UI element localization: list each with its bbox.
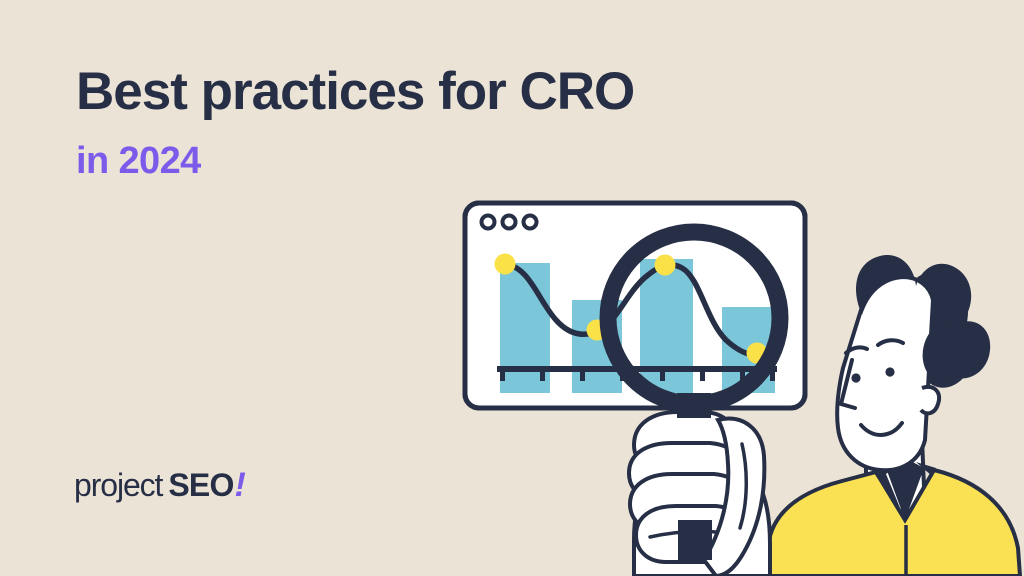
eye-right xyxy=(885,367,894,376)
window-dot-close-icon xyxy=(482,216,495,229)
chart-baseline xyxy=(497,366,777,372)
thumb xyxy=(704,419,764,576)
finger-2 xyxy=(629,443,742,499)
thumb-crease xyxy=(740,444,746,528)
mouth-smile xyxy=(861,423,902,435)
magnifier-handle-tip xyxy=(678,520,712,560)
hair-back xyxy=(883,262,981,393)
logo-word-project: project xyxy=(74,467,162,504)
face xyxy=(837,277,933,470)
chart-data-point xyxy=(747,343,768,364)
browser-window xyxy=(465,203,805,408)
collar-left xyxy=(872,462,905,520)
finger-3 xyxy=(630,474,747,531)
hair-main xyxy=(856,255,990,378)
hair-sideburn xyxy=(916,315,982,390)
browser-window-frame-outline xyxy=(465,203,805,408)
magnifier-handle xyxy=(677,393,711,483)
headline-block: Best practices for CRO in 2024 xyxy=(76,62,756,183)
man-character xyxy=(768,255,1020,576)
slide-canvas: Best practices for CRO in 2024 project S… xyxy=(0,0,1024,576)
page-title: Best practices for CRO xyxy=(76,62,756,121)
analytics-chart xyxy=(495,254,778,394)
forearm xyxy=(634,460,770,576)
chart-trend-line xyxy=(506,264,764,355)
finger-crease xyxy=(650,531,742,537)
hair-front xyxy=(856,255,990,389)
nose xyxy=(841,360,855,408)
collar-right xyxy=(905,462,936,521)
ear xyxy=(921,387,939,413)
chart-axis xyxy=(497,366,777,381)
hair-lobe xyxy=(911,311,981,393)
hair-lobe xyxy=(883,262,979,374)
chart-bar xyxy=(500,263,550,393)
magnifier-neck xyxy=(677,396,711,418)
neck xyxy=(866,438,925,512)
window-dot-maximize-icon xyxy=(524,216,537,229)
logo-exclamation-mark: ! xyxy=(235,466,246,505)
chart-data-point xyxy=(495,254,516,275)
chart-bar xyxy=(572,300,622,393)
magnifier-lens-ring xyxy=(608,232,780,404)
browser-window-frame xyxy=(465,203,805,408)
eyebrow-right xyxy=(878,340,903,345)
hand-fist xyxy=(629,412,770,576)
torso-shirt xyxy=(768,470,1020,576)
collar-v xyxy=(886,458,924,520)
finger-4 xyxy=(636,506,748,562)
chart-bars xyxy=(500,259,775,393)
window-dot-minimize-icon xyxy=(503,216,516,229)
chart-bar xyxy=(640,259,693,393)
finger-1 xyxy=(634,412,736,468)
chart-bar xyxy=(722,307,775,393)
eye-left xyxy=(851,373,860,382)
browser-traffic-lights xyxy=(482,216,537,229)
chart-ticks xyxy=(500,372,775,381)
chart-data-point xyxy=(587,320,608,341)
eyebrow-left xyxy=(846,347,867,353)
chart-data-points xyxy=(495,254,768,364)
chart-data-point xyxy=(655,255,676,276)
page-subtitle: in 2024 xyxy=(76,141,756,183)
logo-word-seo: SEO xyxy=(168,467,233,504)
brand-logo[interactable]: project SEO ! xyxy=(74,466,246,505)
